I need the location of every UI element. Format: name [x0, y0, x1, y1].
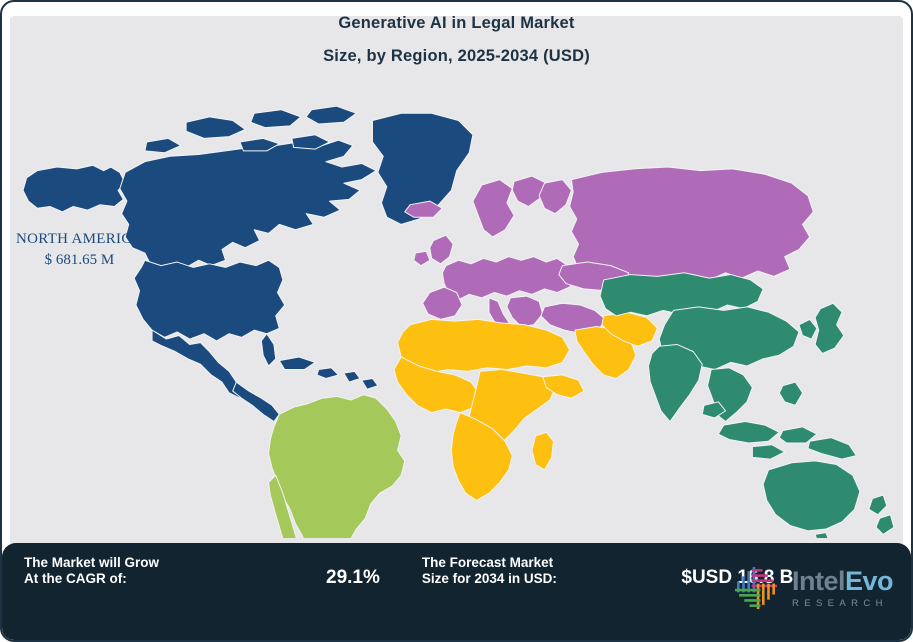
map-region-latin-america[interactable] — [269, 395, 405, 538]
map-region-middle-east-africa[interactable] — [394, 312, 657, 500]
brand-logo[interactable]: IntelEvo RESEARCH — [730, 562, 893, 614]
world-map-container — [10, 90, 907, 538]
page-subtitle: Size, by Region, 2025-2034 (USD) — [2, 47, 911, 66]
logo-text-block: IntelEvo RESEARCH — [792, 568, 893, 609]
cagr-stat: The Market will Grow At the CAGR of: — [24, 555, 204, 587]
logo-word-part-2: Evo — [845, 566, 893, 596]
world-map-svg — [10, 90, 907, 538]
logo-subtitle: RESEARCH — [792, 599, 893, 609]
logo-wordmark: IntelEvo — [792, 568, 893, 595]
infographic-card: Generative AI in Legal Market Size, by R… — [0, 0, 913, 642]
map-region-asia-pacific[interactable] — [600, 273, 894, 538]
forecast-label: The Forecast Market Size for 2034 in USD… — [422, 555, 557, 587]
pinwheel-bars-logo-icon — [730, 562, 782, 614]
logo-word-part-1: Intel — [792, 566, 845, 596]
title-block: Generative AI in Legal Market Size, by R… — [2, 14, 911, 66]
cagr-value: 29.1% — [326, 565, 380, 591]
page-title: Generative AI in Legal Market — [2, 14, 911, 33]
cagr-label: The Market will Grow At the CAGR of: — [24, 555, 159, 587]
forecast-stat: The Forecast Market Size for 2034 in USD… — [422, 555, 612, 587]
